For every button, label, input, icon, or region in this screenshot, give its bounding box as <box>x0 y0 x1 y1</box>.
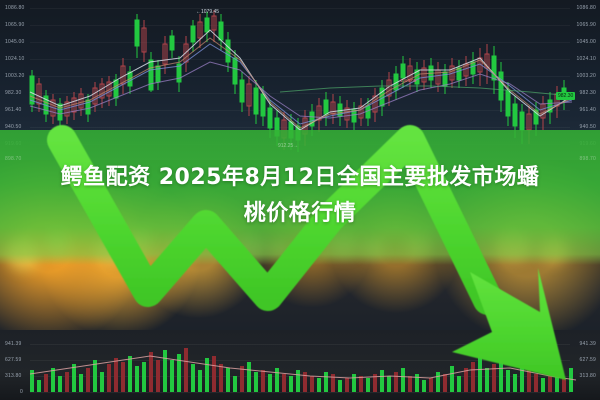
price-axis-left-tick: 961.40 <box>5 107 22 113</box>
volume-axis-left-tick: 627.59 <box>5 357 22 363</box>
annotation-period-low: 912.25→ <box>278 143 298 149</box>
banner-title: 鳄鱼配资 2025年8月12日全国主要批发市场蟠 桃价格行情 <box>0 160 600 232</box>
last-price-tag: 982.30 <box>556 92 575 100</box>
volume-chart-panel: 941.39 627.59 313.80 0 941.39 627.59 313… <box>0 330 600 400</box>
price-axis-left-tick: 1003.20 <box>5 73 24 79</box>
volume-axis-right-tick: 313.80 <box>580 373 597 379</box>
volume-axis-left-tick: 941.39 <box>5 341 22 347</box>
banner-title-line-2: 桃价格行情 <box>8 196 592 232</box>
volume-axis-left-tick: 313.80 <box>5 373 22 379</box>
volume-axis-left-tick: 0 <box>20 389 23 395</box>
price-axis-right-tick: 1086.80 <box>577 5 596 11</box>
price-axis-left-tick: 1024.10 <box>5 56 24 62</box>
annotation-period-high: ←1079.45 <box>196 9 219 15</box>
ma-line-green-long <box>280 86 572 96</box>
volume-axis-right-tick: 627.59 <box>580 357 597 363</box>
price-axis-right-tick: 1003.20 <box>577 73 596 79</box>
price-axis-left-tick: 1086.80 <box>5 5 24 11</box>
screenshot-root: 982.30 ←1079.45 1066.05 1086.80 1065.90 … <box>0 0 600 400</box>
annotation-marker-1066: 1066.05 <box>400 78 416 83</box>
price-axis-right-tick: 1024.10 <box>577 56 596 62</box>
price-axis-right-tick: 1045.00 <box>577 39 596 45</box>
volume-axis-right-tick: 941.39 <box>580 341 597 347</box>
price-axis-right-tick: 961.40 <box>580 107 597 113</box>
price-axis-left-tick: 1045.00 <box>5 39 24 45</box>
volume-bar-series <box>0 330 600 400</box>
banner-title-line-1: 鳄鱼配资 2025年8月12日全国主要批发市场蟠 <box>8 160 592 196</box>
price-axis-left-tick: 982.30 <box>5 90 22 96</box>
price-axis-right-tick: 1065.90 <box>577 22 596 28</box>
price-axis-left-tick: 1065.90 <box>5 22 24 28</box>
ma-line-white <box>30 30 572 130</box>
price-axis-right-tick: 982.30 <box>580 90 597 96</box>
